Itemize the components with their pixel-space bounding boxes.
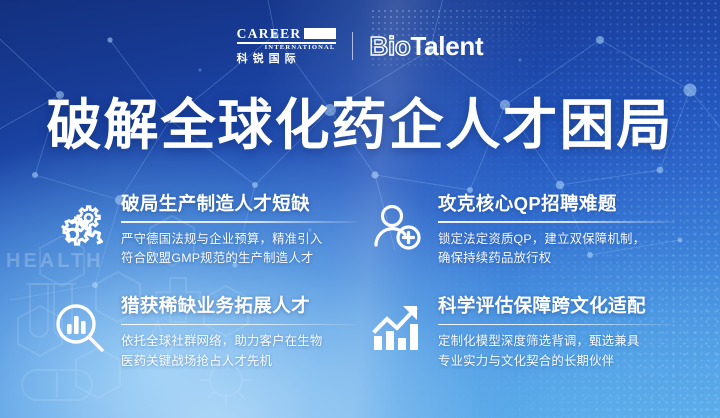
- page-title: 破解全球化药企人才困局: [0, 98, 720, 153]
- feature-desc-2-line1: 锁定法定资质QP，建立双保障机制，: [438, 230, 674, 249]
- feature-desc-2: 锁定法定资质QP，建立双保障机制， 确保持续药品放行权: [438, 230, 674, 268]
- career-international-text: INTERNATIONAL: [265, 45, 336, 52]
- feature-text-4: 科学评估保障跨文化适配 定制化模型深度筛选背调，甄选兼具 专业实力与文化契合的长…: [438, 294, 674, 370]
- growth-arrow-icon: [369, 300, 425, 356]
- feature-desc-3-line1: 依托全球社群网络，助力客户在生物: [121, 332, 357, 351]
- feature-desc-4-line1: 定制化模型深度筛选背调，甄选兼具: [438, 332, 674, 351]
- feature-grid: 破局生产制造人才短缺 严守德国法规与企业预算，精准引入 符合欧盟GMP规范的生产…: [52, 192, 674, 371]
- feature-desc-1-line1: 严守德国法规与企业预算，精准引入: [121, 230, 357, 249]
- feature-heading-1: 破局生产制造人才短缺: [121, 194, 357, 214]
- feature-desc-1-line2: 符合欧盟GMP规范的生产制造人才: [121, 249, 357, 268]
- logo-row: CAREER INTERNATIONAL 科锐国际 BioTalent: [0, 24, 720, 68]
- feature-desc-4-line2: 专业实力与文化契合的长期伙伴: [438, 352, 674, 371]
- career-logo-block: [304, 28, 336, 39]
- biotalent-bio-text: Bio: [369, 33, 410, 59]
- career-international-logo: CAREER INTERNATIONAL 科锐国际: [237, 27, 337, 65]
- feature-heading-4: 科学评估保障跨文化适配: [438, 296, 674, 316]
- chart-search-icon: [52, 300, 108, 356]
- career-wordmark: CAREER: [237, 27, 302, 41]
- feature-desc-3-line2: 医药关键战场抢占人才先机: [121, 352, 357, 371]
- feature-item-4: 科学评估保障跨文化适配 定制化模型深度筛选背调，甄选兼具 专业实力与文化契合的长…: [369, 294, 674, 370]
- feature-heading-3: 猎获稀缺业务拓展人才: [121, 296, 357, 316]
- feature-desc-1: 严守德国法规与企业预算，精准引入 符合欧盟GMP规范的生产制造人才: [121, 230, 357, 268]
- feature-item-3: 猎获稀缺业务拓展人才 依托全球社群网络，助力客户在生物 医药关键战场抢占人才先机: [52, 294, 357, 370]
- feature-divider-4: [438, 324, 674, 326]
- feature-text-3: 猎获稀缺业务拓展人才 依托全球社群网络，助力客户在生物 医药关键战场抢占人才先机: [121, 294, 357, 370]
- feature-item-2: 攻克核心QP招聘难题 锁定法定资质QP，建立双保障机制， 确保持续药品放行权: [369, 192, 674, 268]
- feature-desc-2-line2: 确保持续药品放行权: [438, 249, 674, 268]
- logo-separator: [352, 32, 353, 60]
- biotalent-talent-text: Talent: [410, 33, 483, 59]
- feature-divider-2: [438, 221, 674, 223]
- biotalent-logo: BioTalent: [369, 33, 483, 59]
- career-logo-top: CAREER: [237, 27, 337, 41]
- promotional-banner: HEALTH CAREER INTERNATIONAL 科锐国际 BioTale…: [0, 0, 720, 418]
- feature-item-1: 破局生产制造人才短缺 严守德国法规与企业预算，精准引入 符合欧盟GMP规范的生产…: [52, 192, 357, 268]
- feature-text-2: 攻克核心QP招聘难题 锁定法定资质QP，建立双保障机制， 确保持续药品放行权: [438, 192, 674, 268]
- user-plus-icon: [369, 198, 425, 254]
- gears-icon: [52, 198, 108, 254]
- career-chinese-name: 科锐国际: [237, 54, 301, 65]
- feature-desc-4: 定制化模型深度筛选背调，甄选兼具 专业实力与文化契合的长期伙伴: [438, 332, 674, 370]
- feature-text-1: 破局生产制造人才短缺 严守德国法规与企业预算，精准引入 符合欧盟GMP规范的生产…: [121, 192, 357, 268]
- feature-divider-3: [121, 324, 357, 326]
- feature-desc-3: 依托全球社群网络，助力客户在生物 医药关键战场抢占人才先机: [121, 332, 357, 370]
- feature-divider-1: [121, 221, 357, 223]
- feature-heading-2: 攻克核心QP招聘难题: [438, 194, 674, 214]
